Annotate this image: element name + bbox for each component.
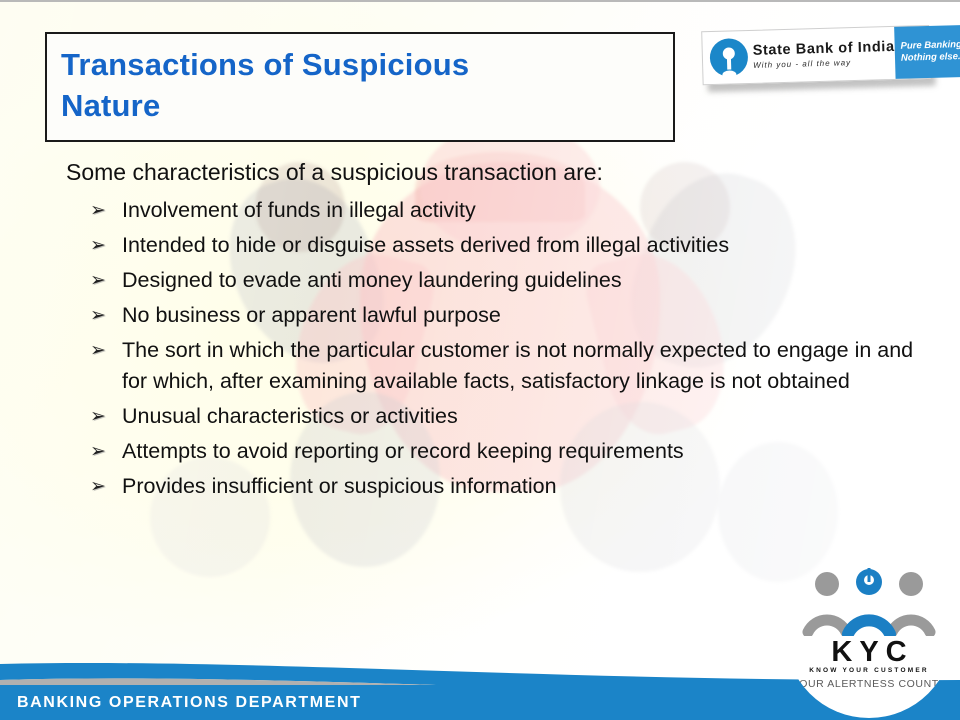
arrow-bullet-icon: ➢	[90, 401, 122, 432]
list-item: ➢ Provides insufficient or suspicious in…	[90, 471, 935, 502]
list-item: ➢ The sort in which the particular custo…	[90, 335, 935, 397]
arrow-bullet-icon: ➢	[90, 265, 122, 296]
list-item-label: Involvement of funds in illegal activity	[122, 195, 935, 226]
sbi-slogan-line-2: Nothing else.	[901, 51, 960, 65]
sbi-keyhole-icon	[709, 38, 748, 77]
list-item: ➢ No business or apparent lawful purpose	[90, 300, 935, 331]
bullet-list: ➢ Involvement of funds in illegal activi…	[90, 195, 935, 506]
list-item-label: Unusual characteristics or activities	[122, 401, 935, 432]
sbi-logo: State Bank of India With you - all the w…	[701, 25, 939, 94]
list-item-label: Provides insufficient or suspicious info…	[122, 471, 935, 502]
footer-department-label: BANKING OPERATIONS DEPARTMENT	[17, 694, 361, 712]
arrow-bullet-icon: ➢	[90, 230, 122, 261]
sbi-tagline: With you - all the way	[753, 58, 895, 70]
list-item-label: Attempts to avoid reporting or record ke…	[122, 436, 935, 467]
list-item-label: Designed to evade anti money laundering …	[122, 265, 935, 296]
sbi-slogan-box: Pure Banking. Nothing else.	[894, 25, 960, 79]
arrow-bullet-icon: ➢	[90, 471, 122, 502]
arrow-bullet-icon: ➢	[90, 436, 122, 467]
sbi-bank-name: State Bank of India	[753, 40, 895, 58]
list-item-label: The sort in which the particular custome…	[122, 335, 935, 397]
list-item: ➢ Designed to evade anti money launderin…	[90, 265, 935, 296]
kyc-strapline: YOUR ALERTNESS COUNTS	[792, 678, 947, 690]
arrow-bullet-icon: ➢	[90, 195, 122, 226]
arrow-bullet-icon: ➢	[90, 300, 122, 331]
list-item-label: Intended to hide or disguise assets deri…	[122, 230, 935, 261]
list-item: ➢ Unusual characteristics or activities	[90, 401, 935, 432]
title-box: Transactions of Suspicious Nature	[45, 32, 675, 142]
list-item: ➢ Intended to hide or disguise assets de…	[90, 230, 935, 261]
arrow-bullet-icon: ➢	[90, 335, 122, 366]
list-item: ➢ Involvement of funds in illegal activi…	[90, 195, 935, 226]
kyc-acronym: KYC	[824, 638, 913, 666]
page-title-line-1: Transactions of Suspicious	[61, 44, 661, 85]
page-title-line-2: Nature	[61, 85, 661, 126]
list-item-label: No business or apparent lawful purpose	[122, 300, 935, 331]
sbi-logo-plate: State Bank of India With you - all the w…	[701, 25, 930, 85]
sbi-wordmark: State Bank of India With you - all the w…	[748, 40, 896, 70]
page-title: Transactions of Suspicious Nature	[61, 44, 661, 126]
presentation-slide: Transactions of Suspicious Nature State …	[0, 0, 960, 720]
lead-paragraph: Some characteristics of a suspicious tra…	[66, 157, 926, 187]
kyc-logo: KYC KNOW YOUR CUSTOMER YOUR ALERTNESS CO…	[785, 550, 953, 718]
kyc-people-icon	[794, 566, 944, 636]
kyc-expansion: KNOW YOUR CUSTOMER	[809, 667, 929, 674]
list-item: ➢ Attempts to avoid reporting or record …	[90, 436, 935, 467]
kyc-people-glyph	[794, 566, 944, 636]
